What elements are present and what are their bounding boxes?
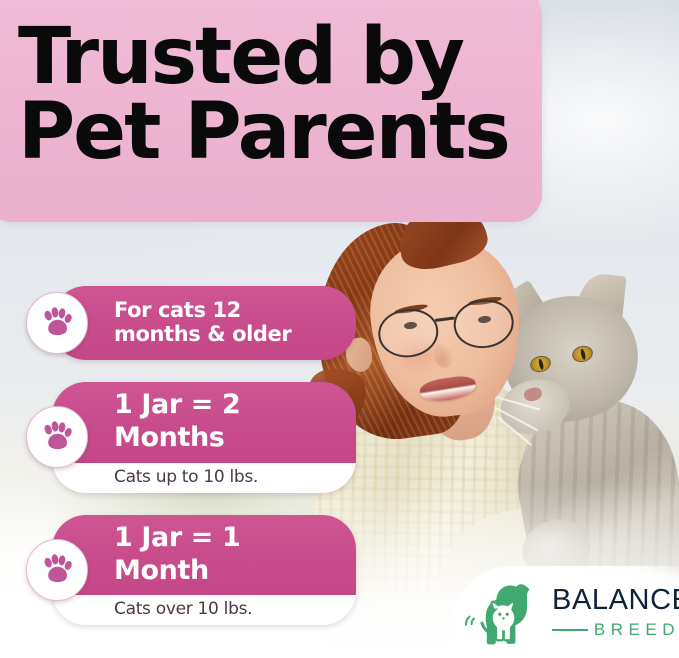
logo-divider-rule — [552, 629, 588, 631]
feature-pill-one-jar-one-month[interactable]: 1 Jar = 1 Month Cats over 10 lbs. — [26, 515, 356, 626]
logo-tagline-row: BREED — [552, 621, 679, 638]
pill-secondary-text: Cats over 10 lbs. — [52, 595, 356, 625]
paw-icon — [26, 292, 88, 354]
paw-icon — [26, 406, 88, 468]
paw-icon — [26, 539, 88, 601]
feature-pill-age-requirement[interactable]: For cats 12 months & older — [26, 286, 356, 360]
pill-primary-text: For cats 12 months & older — [52, 286, 356, 360]
logo-tagline: BREED — [594, 621, 679, 638]
dog-and-cat-icon — [460, 578, 556, 648]
pill-primary-text: 1 Jar = 1 Month — [52, 515, 356, 596]
pill-body: 1 Jar = 2 Months Cats up to 10 lbs. — [52, 382, 356, 493]
feature-pill-list: For cats 12 months & older 1 Jar = 2 Mon… — [26, 286, 356, 647]
logo-brand-text: BALANCED — [552, 584, 679, 616]
headline-line-2: Pet Parents — [18, 95, 542, 170]
pill-primary-line-2: months & older — [114, 322, 342, 346]
headline-banner: Trusted by Pet Parents — [0, 0, 542, 222]
pill-primary-line-1: For cats 12 — [114, 298, 342, 322]
page-title: Trusted by Pet Parents — [18, 20, 542, 170]
pill-secondary-text: Cats up to 10 lbs. — [52, 463, 356, 493]
pill-body: 1 Jar = 1 Month Cats over 10 lbs. — [52, 515, 356, 626]
brand-logo[interactable]: BALANCED ® BREED — [460, 578, 679, 650]
logo-wordmark: BALANCED ® BREED — [552, 586, 679, 638]
feature-pill-one-jar-two-months[interactable]: 1 Jar = 2 Months Cats up to 10 lbs. — [26, 382, 356, 493]
logo-brand-name: BALANCED ® — [552, 586, 679, 615]
pill-body: For cats 12 months & older — [52, 286, 356, 360]
pill-primary-text: 1 Jar = 2 Months — [52, 382, 356, 463]
